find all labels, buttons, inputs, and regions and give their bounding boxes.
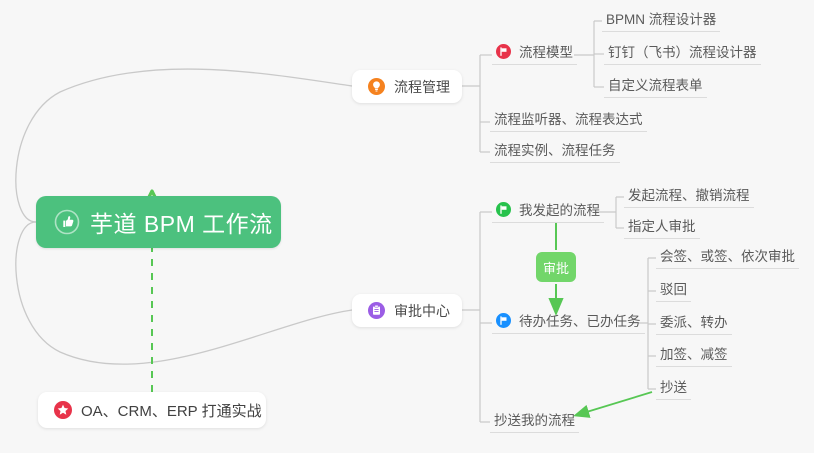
approval-badge[interactable]: 审批 xyxy=(536,252,576,282)
node-assignee-approval[interactable]: 指定人审批 xyxy=(624,215,700,239)
node-reject[interactable]: 驳回 xyxy=(656,278,691,302)
clipboard-icon xyxy=(368,302,385,319)
node-label-start-cancel-process: 发起流程、撤销流程 xyxy=(628,184,750,204)
node-label-cc-to-me-process: 抄送我的流程 xyxy=(494,409,575,429)
node-delegate-transfer[interactable]: 委派、转办 xyxy=(656,311,732,335)
node-my-initiated-process[interactable]: 我发起的流程 xyxy=(492,199,604,223)
branch-label-process-management: 流程管理 xyxy=(394,77,450,97)
node-todo-done-tasks[interactable]: 待办任务、已办任务 xyxy=(492,310,645,334)
arrow-cc-to-ccmyprocess xyxy=(580,392,652,414)
node-cc-to-me-process[interactable]: 抄送我的流程 xyxy=(490,409,579,433)
node-custom-process-form[interactable]: 自定义流程表单 xyxy=(604,74,707,98)
lightbulb-icon xyxy=(368,78,385,95)
mindmap-canvas: 芋道 BPM 工作流 流程管理 审批中心 xyxy=(0,0,814,453)
flag-icon xyxy=(496,202,511,217)
branch-node-approval-center[interactable]: 审批中心 xyxy=(352,294,462,327)
node-label-process-model: 流程模型 xyxy=(519,41,573,61)
node-label-add-remove-sign: 加签、减签 xyxy=(660,343,728,363)
node-label-countersign: 会签、或签、依次审批 xyxy=(660,245,795,265)
node-label-dingtalk-feishu-designer: 钉钉（飞书）流程设计器 xyxy=(608,41,757,61)
flag-icon xyxy=(496,44,511,59)
node-label-todo-done-tasks: 待办任务、已办任务 xyxy=(519,310,641,330)
node-label-bpmn-designer: BPMN 流程设计器 xyxy=(606,8,716,28)
node-process-model[interactable]: 流程模型 xyxy=(492,41,577,65)
node-label-delegate-transfer: 委派、转办 xyxy=(660,311,728,331)
node-label-assignee-approval: 指定人审批 xyxy=(628,215,696,235)
node-label-process-instance-task: 流程实例、流程任务 xyxy=(494,139,616,159)
node-countersign[interactable]: 会签、或签、依次审批 xyxy=(656,245,799,269)
flag-icon xyxy=(496,313,511,328)
node-label-carbon-copy: 抄送 xyxy=(660,376,687,396)
node-add-remove-sign[interactable]: 加签、减签 xyxy=(656,343,732,367)
star-icon xyxy=(54,401,72,419)
approval-badge-label: 审批 xyxy=(543,258,569,277)
node-label-process-listener-expression: 流程监听器、流程表达式 xyxy=(494,108,643,128)
node-label-custom-process-form: 自定义流程表单 xyxy=(608,74,703,94)
integration-note-node[interactable]: OA、CRM、ERP 打通实战 xyxy=(38,392,266,428)
node-label-my-initiated-process: 我发起的流程 xyxy=(519,199,600,219)
branch-label-approval-center: 审批中心 xyxy=(394,301,450,321)
node-label-reject: 驳回 xyxy=(660,278,687,298)
thumbs-up-icon xyxy=(54,209,80,235)
integration-note-label: OA、CRM、ERP 打通实战 xyxy=(81,400,262,421)
node-dingtalk-feishu-designer[interactable]: 钉钉（飞书）流程设计器 xyxy=(604,41,761,65)
branch-node-process-management[interactable]: 流程管理 xyxy=(352,70,462,103)
node-carbon-copy[interactable]: 抄送 xyxy=(656,376,691,400)
node-bpmn-designer[interactable]: BPMN 流程设计器 xyxy=(602,8,720,32)
root-node[interactable]: 芋道 BPM 工作流 xyxy=(36,196,281,248)
node-process-listener-expression[interactable]: 流程监听器、流程表达式 xyxy=(490,108,647,132)
node-start-cancel-process[interactable]: 发起流程、撤销流程 xyxy=(624,184,754,208)
node-process-instance-task[interactable]: 流程实例、流程任务 xyxy=(490,139,620,163)
root-label: 芋道 BPM 工作流 xyxy=(90,205,273,239)
